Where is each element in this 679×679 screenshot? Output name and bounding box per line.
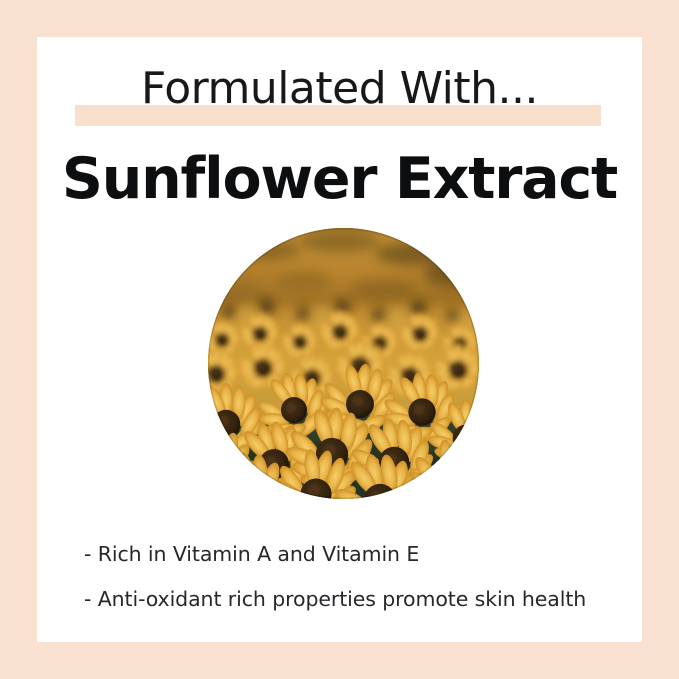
page-title: Sunflower Extract [37, 144, 642, 214]
benefit-item: - Rich in Vitamin A and Vitamin E [84, 532, 629, 577]
eyebrow-heading-group: Formulated With... [37, 54, 642, 132]
sunflower-field-illustration [208, 228, 479, 499]
eyebrow-heading: Formulated With... [37, 54, 642, 124]
white-content-panel: Formulated With... Sunflower Extract [37, 37, 642, 642]
sunflower-field-image [208, 228, 479, 499]
benefit-item: - Anti-oxidant rich properties promote s… [84, 577, 629, 622]
infographic-card: Formulated With... Sunflower Extract [0, 0, 679, 679]
benefits-list: - Rich in Vitamin A and Vitamin E - Anti… [84, 532, 629, 622]
